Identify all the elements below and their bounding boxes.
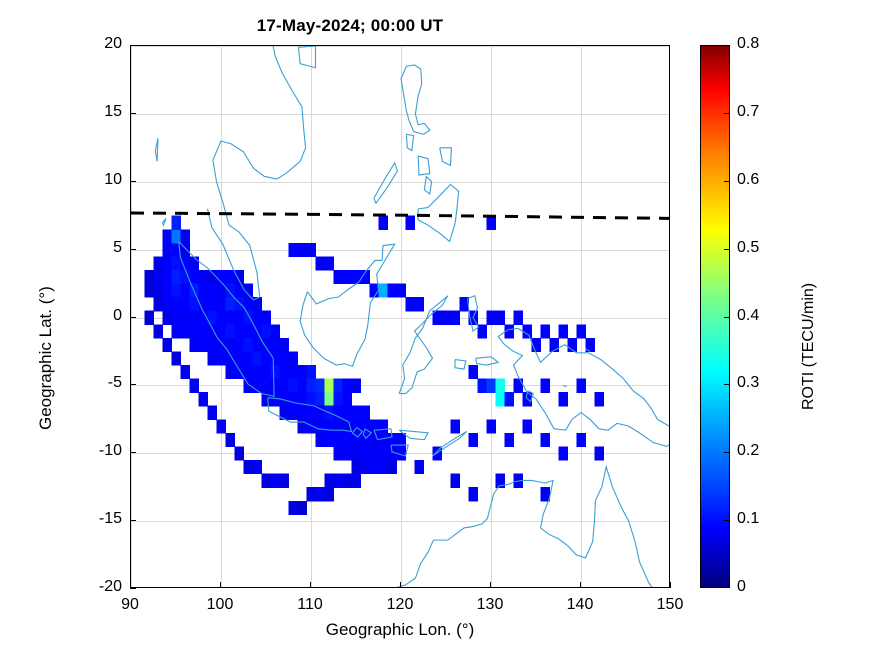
x-tick-label: 150 — [640, 596, 700, 614]
y-tick-label: -5 — [76, 374, 122, 392]
x-tick — [310, 582, 311, 588]
y-tick — [130, 113, 136, 114]
x-tick — [490, 582, 491, 588]
y-tick-label: -20 — [76, 578, 122, 596]
x-tick — [220, 582, 221, 588]
x-tick-label: 90 — [100, 596, 160, 614]
colorbar-tick — [724, 249, 730, 250]
colorbar-tick-label: 0.5 — [737, 239, 759, 257]
colorbar-tick-label: 0 — [737, 578, 746, 596]
x-axis-title: Geographic Lon. (°) — [130, 620, 670, 640]
y-tick-label: -10 — [76, 442, 122, 460]
x-tick-label: 110 — [280, 596, 340, 614]
magnetic-equator-layer — [131, 46, 670, 588]
y-tick — [130, 45, 136, 46]
y-tick-label: 10 — [76, 171, 122, 189]
colorbar-tick — [724, 384, 730, 385]
colorbar-tick — [724, 113, 730, 114]
x-tick — [580, 582, 581, 588]
colorbar-tick — [724, 181, 730, 182]
colorbar-tick-label: 0.8 — [737, 35, 759, 53]
colorbar-tick — [724, 452, 730, 453]
y-tick — [130, 181, 136, 182]
magnetic-equator-line — [131, 213, 670, 218]
x-tick-label: 120 — [370, 596, 430, 614]
y-tick-label: -15 — [76, 510, 122, 528]
plot-area — [130, 45, 670, 588]
y-axis-title: Geographic Lat. (°) — [36, 286, 56, 430]
y-tick-label: 20 — [76, 35, 122, 53]
x-tick — [400, 582, 401, 588]
x-tick-label: 140 — [550, 596, 610, 614]
colorbar-tick-label: 0.6 — [737, 171, 759, 189]
colorbar-title: ROTI (TECU/min) — [800, 283, 818, 410]
page-title: 17-May-2024; 00:00 UT — [0, 16, 700, 36]
y-tick-label: 5 — [76, 239, 122, 257]
y-tick — [130, 452, 136, 453]
x-tick-label: 100 — [190, 596, 250, 614]
colorbar-tick — [724, 317, 730, 318]
colorbar-tick-label: 0.4 — [737, 307, 759, 325]
colorbar-tick-label: 0.3 — [737, 374, 759, 392]
y-tick — [130, 588, 136, 589]
y-tick-label: 15 — [76, 103, 122, 121]
y-tick — [130, 249, 136, 250]
plot-inner — [131, 46, 669, 587]
y-tick — [130, 384, 136, 385]
x-tick-label: 130 — [460, 596, 520, 614]
y-tick-label: 0 — [76, 307, 122, 325]
y-tick — [130, 317, 136, 318]
colorbar-tick — [724, 520, 730, 521]
colorbar-tick-label: 0.1 — [737, 510, 759, 528]
colorbar-tick-label: 0.2 — [737, 442, 759, 460]
y-tick — [130, 520, 136, 521]
x-tick — [670, 582, 671, 588]
colorbar-tick-label: 0.7 — [737, 103, 759, 121]
